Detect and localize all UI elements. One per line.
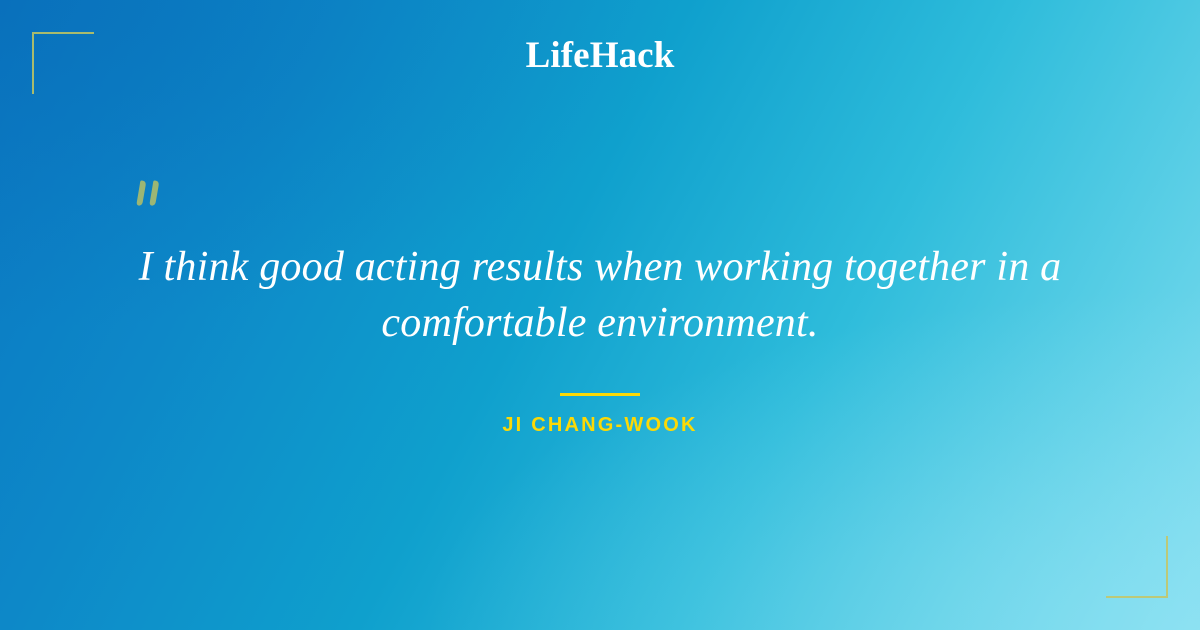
lifehack-logo: LifeHack bbox=[0, 37, 1200, 74]
quote-block: I think good acting results when working… bbox=[100, 240, 1100, 352]
quote-card: LifeHack I think good acting results whe… bbox=[0, 0, 1200, 630]
corner-bracket-bottom-right-icon bbox=[1106, 536, 1168, 598]
divider-container bbox=[0, 383, 1200, 401]
quote-line-1: I think good acting results when working… bbox=[100, 240, 1100, 296]
quote-author: JI CHANG-WOOK bbox=[0, 413, 1200, 437]
double-quote-icon bbox=[134, 176, 174, 216]
quote-line-2: comfortable environment. bbox=[100, 296, 1100, 352]
divider-rule bbox=[560, 393, 640, 396]
